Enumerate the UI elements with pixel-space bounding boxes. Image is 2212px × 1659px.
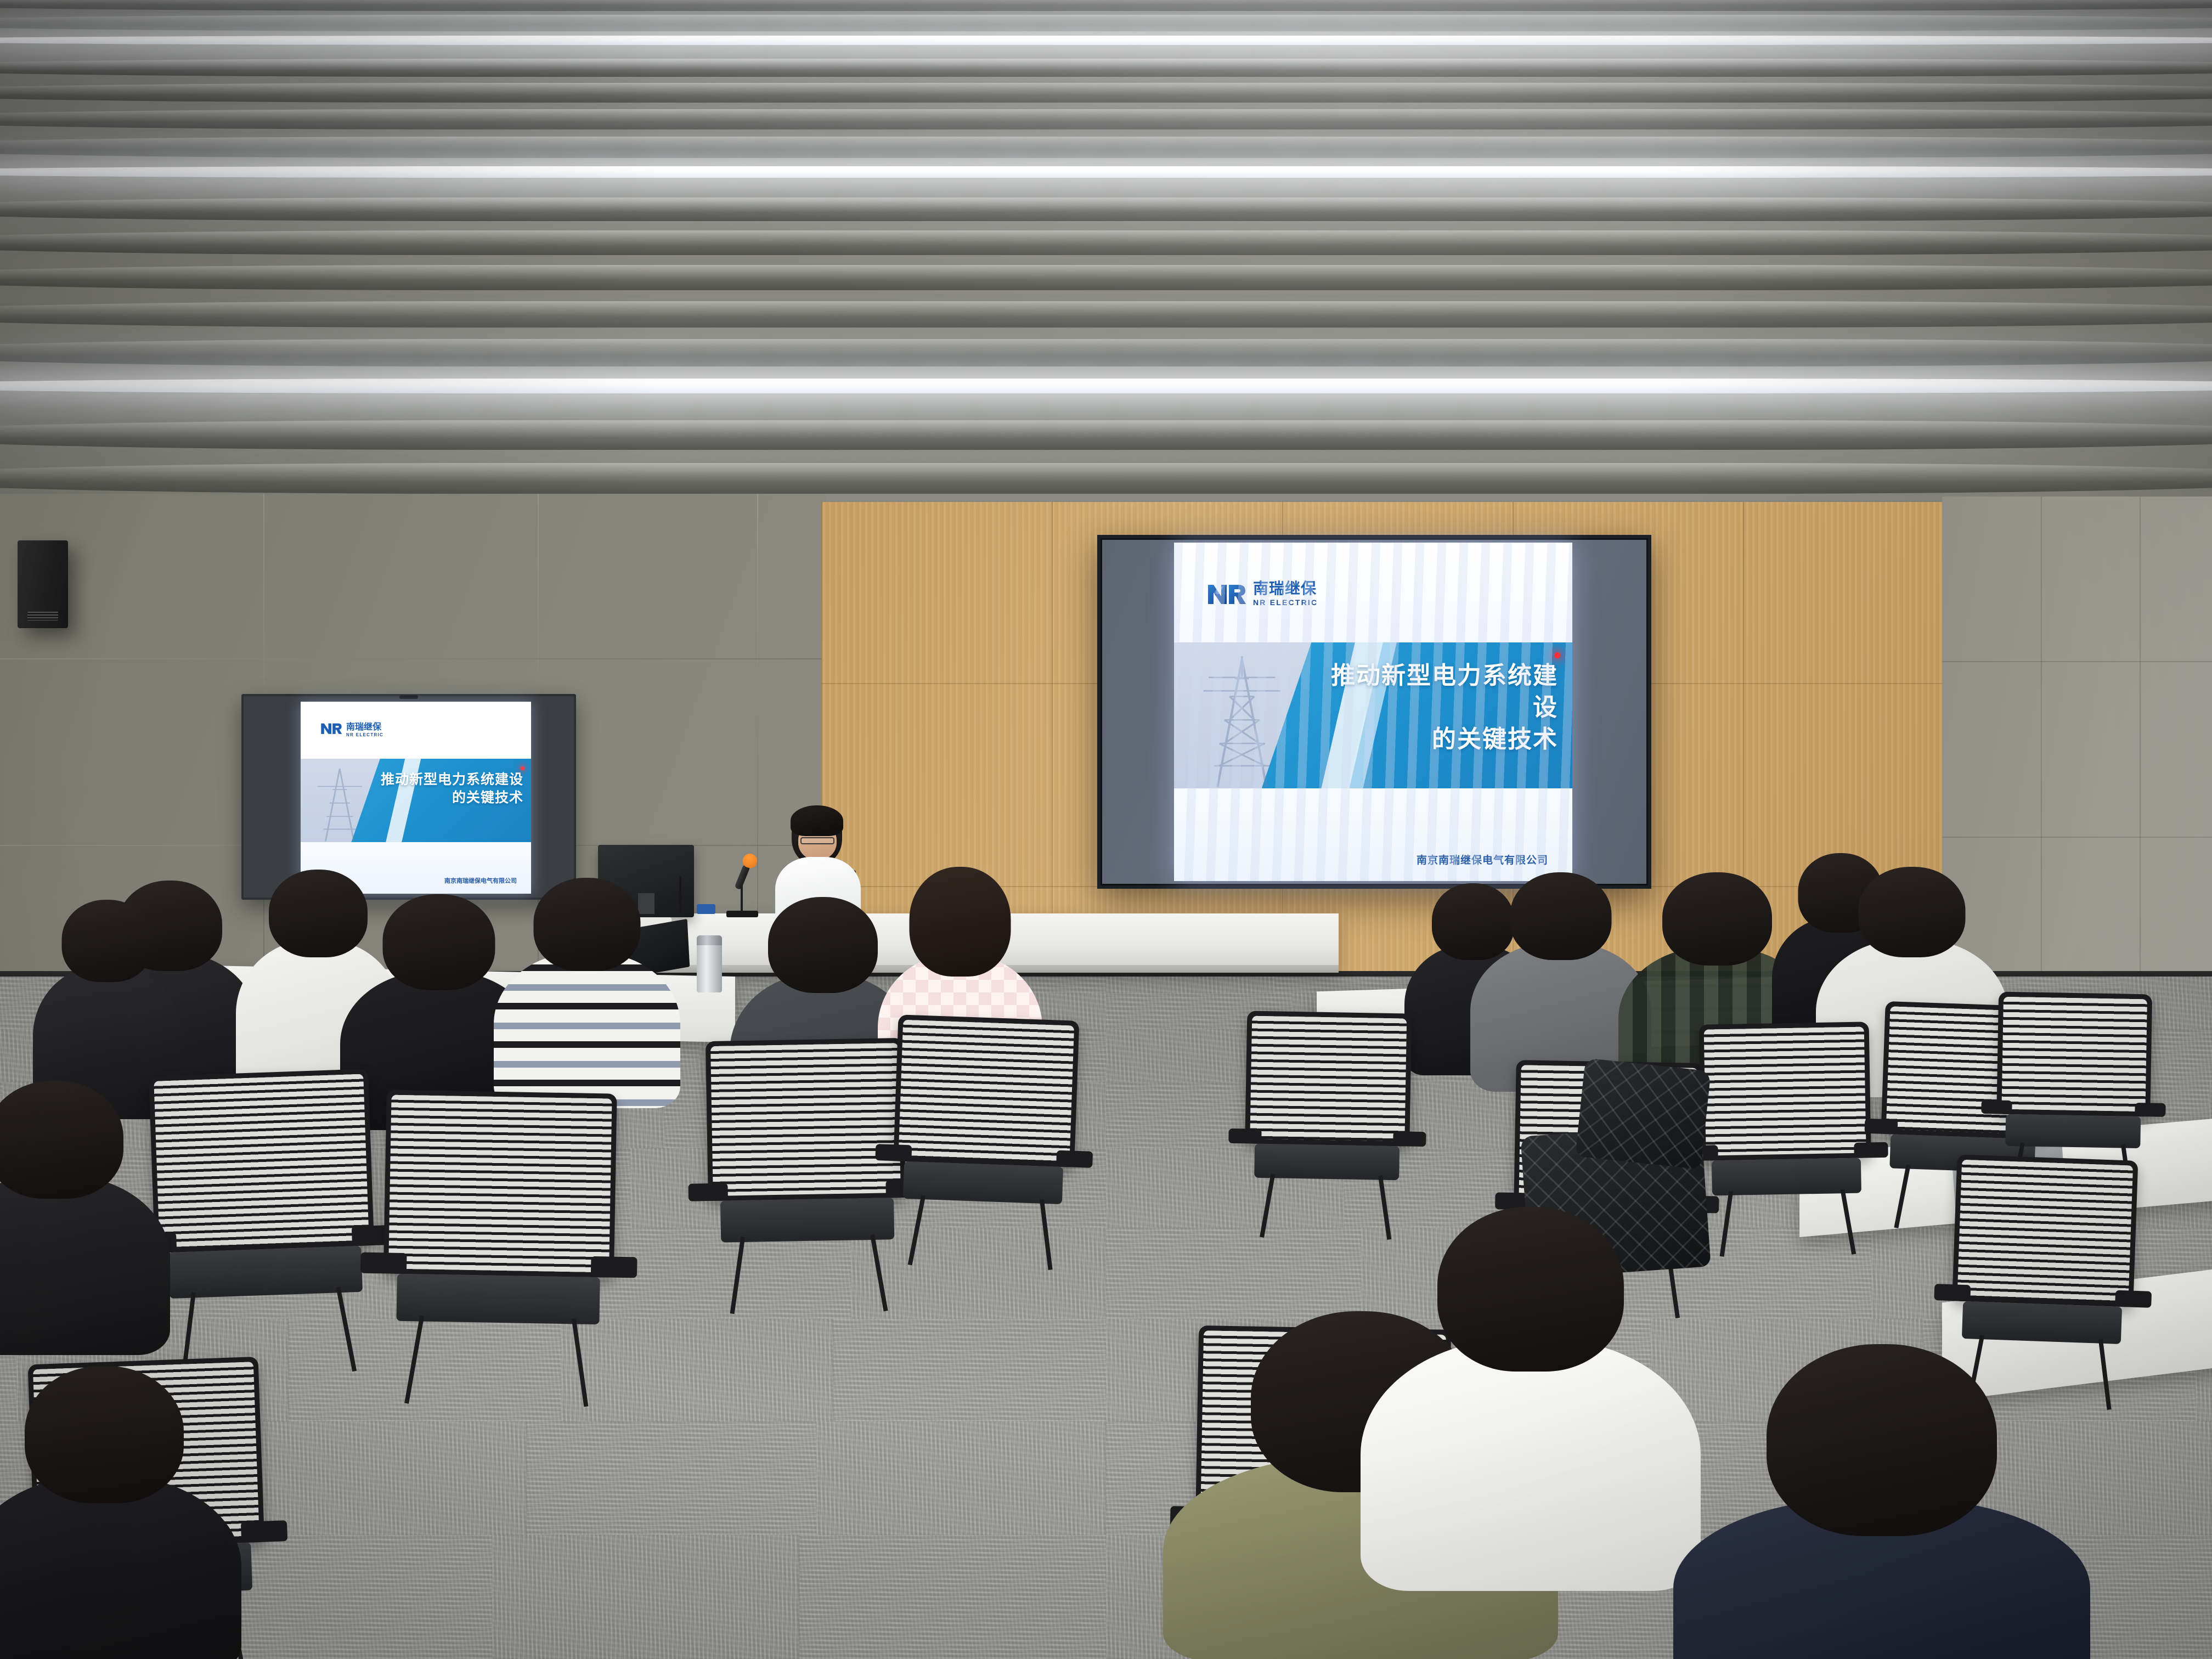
presentation-slide: 南瑞继保 NR ELECTRIC [1174, 543, 1572, 881]
chair-backrest [149, 1069, 374, 1253]
chair-backrest [1996, 992, 2152, 1117]
chair-left-2[interactable] [381, 1090, 617, 1390]
chair-armrest-left [1981, 1100, 2012, 1114]
person-head [910, 867, 1011, 977]
laser-pointer-dot [1554, 652, 1560, 658]
wall-speaker-icon [18, 540, 68, 628]
foreground-navy-jacket [1673, 1344, 2090, 1659]
monitor-transmission-tower-icon [314, 765, 365, 842]
chair-seat [2005, 1114, 2141, 1148]
chair-armrest-left [1934, 1284, 1971, 1301]
carpet-tile [1106, 977, 1275, 993]
person-head [768, 897, 878, 993]
person-head [25, 1366, 184, 1503]
chair-armrest-right [591, 1256, 637, 1278]
chair-backrest [383, 1090, 617, 1277]
thermos-flask [697, 935, 722, 992]
carpet-tile [237, 1421, 527, 1535]
chair-seat [1711, 1158, 1861, 1196]
chair-armrest-left [688, 1183, 728, 1201]
chair-armrest-right [1056, 1150, 1093, 1167]
attendee-striped-tee [494, 878, 680, 1108]
chair-seat [168, 1246, 363, 1298]
chair-armrest-left [1228, 1128, 1261, 1143]
carpet-tile [799, 1535, 1106, 1659]
baffle-ceiling [0, 0, 2212, 538]
monitor-slide-title: 推动新型电力系统建设 的关键技术 [380, 771, 523, 806]
person-head [383, 894, 495, 990]
chair-seat [720, 1198, 895, 1243]
chair-seat [397, 1274, 600, 1325]
chair-right-back[interactable] [1244, 1011, 1412, 1227]
nr-monogram-icon [1207, 583, 1246, 605]
monitor-brand-en: NR ELECTRIC [346, 732, 383, 737]
chair-backrest [1699, 1022, 1871, 1160]
chair-seat [1254, 1143, 1400, 1180]
carpet-tile [2120, 977, 2212, 993]
monitor-laser-dot [521, 766, 524, 770]
chair-armrest-left [360, 1252, 407, 1274]
monitor-nr-monogram-icon [320, 723, 342, 737]
conference-room-photo: 南瑞继保 NR ELECTRIC [0, 0, 2212, 1659]
monitor-nr-logo: 南瑞继保 NR ELECTRIC [320, 723, 383, 737]
person-head [1662, 872, 1772, 966]
monitor-title-line-2: 的关键技术 [380, 789, 523, 807]
slide-footer-band [1174, 788, 1572, 881]
chair-backrest [706, 1038, 906, 1201]
slide-title: 推动新型电力系统建设 的关键技术 [1317, 660, 1558, 755]
chair-backrest [893, 1014, 1079, 1167]
person-head [1767, 1344, 1997, 1536]
chair-armrest-right [241, 1520, 287, 1543]
person-head [1859, 867, 1966, 957]
chair-armrest-right [1393, 1131, 1426, 1147]
person-head [1437, 1207, 1624, 1372]
projector-screen[interactable]: 南瑞继保 NR ELECTRIC [1097, 535, 1651, 889]
wall-monitor[interactable]: 南瑞继保 NR ELECTRIC [241, 694, 576, 900]
carpet-tile [492, 1535, 799, 1659]
chair-armrest-right [2135, 1103, 2165, 1117]
chair-center-2[interactable] [890, 1014, 1080, 1256]
monitor-camera-icon [399, 695, 418, 699]
carpet-tile [527, 1421, 816, 1535]
brand-name-en: NR ELECTRIC [1253, 598, 1318, 607]
person-head [1510, 872, 1612, 960]
monitor-brand-cn: 南瑞继保 [346, 723, 381, 732]
carpet-tile [1106, 1228, 1361, 1319]
slide-company-name: 南京南瑞继保电气有限公司 [1417, 852, 1548, 867]
foreground-white-sweatshirt [1361, 1207, 1701, 1591]
person-torso [0, 1175, 170, 1355]
desk-accessory [697, 904, 715, 914]
person-head [534, 878, 641, 971]
foreground-left-dark [0, 1366, 241, 1659]
presenter-glasses-icon [800, 837, 834, 844]
person-head [0, 1081, 123, 1199]
chair-armrest-left [875, 1144, 912, 1161]
transmission-tower-icon [1198, 654, 1286, 788]
person-torso [0, 1476, 241, 1659]
chair-backrest [1952, 1154, 2138, 1307]
brand-name-cn: 南瑞继保 [1253, 580, 1317, 597]
person-torso [1361, 1339, 1701, 1591]
carpet-tile [833, 1319, 1106, 1421]
backpack-chair [1575, 1058, 1711, 1169]
nr-electric-logo: 南瑞继保 NR ELECTRIC [1207, 581, 1318, 607]
monitor-title-line-1: 推动新型电力系统建设 [381, 772, 523, 787]
chair-seat [1962, 1301, 2123, 1344]
chair-left-1[interactable] [149, 1069, 378, 1362]
monitor-slide: 南瑞继保 NR ELECTRIC [301, 702, 531, 894]
chair-center-1[interactable] [706, 1038, 907, 1299]
carpet-tile [816, 1421, 1106, 1535]
person-head [62, 900, 153, 982]
chair-backrest [1245, 1011, 1412, 1146]
chair-seat [903, 1161, 1064, 1204]
slide-title-line-2: 的关键技术 [1317, 724, 1558, 755]
chair-armrest-left [1864, 1118, 1898, 1134]
chair-armrest-right [2115, 1290, 2152, 1307]
person-torso [494, 952, 680, 1108]
slide-title-line-1: 推动新型电力系统建设 [1331, 662, 1558, 721]
chair-right-2[interactable] [1699, 1022, 1873, 1244]
foreground-left-upper [0, 1081, 170, 1355]
